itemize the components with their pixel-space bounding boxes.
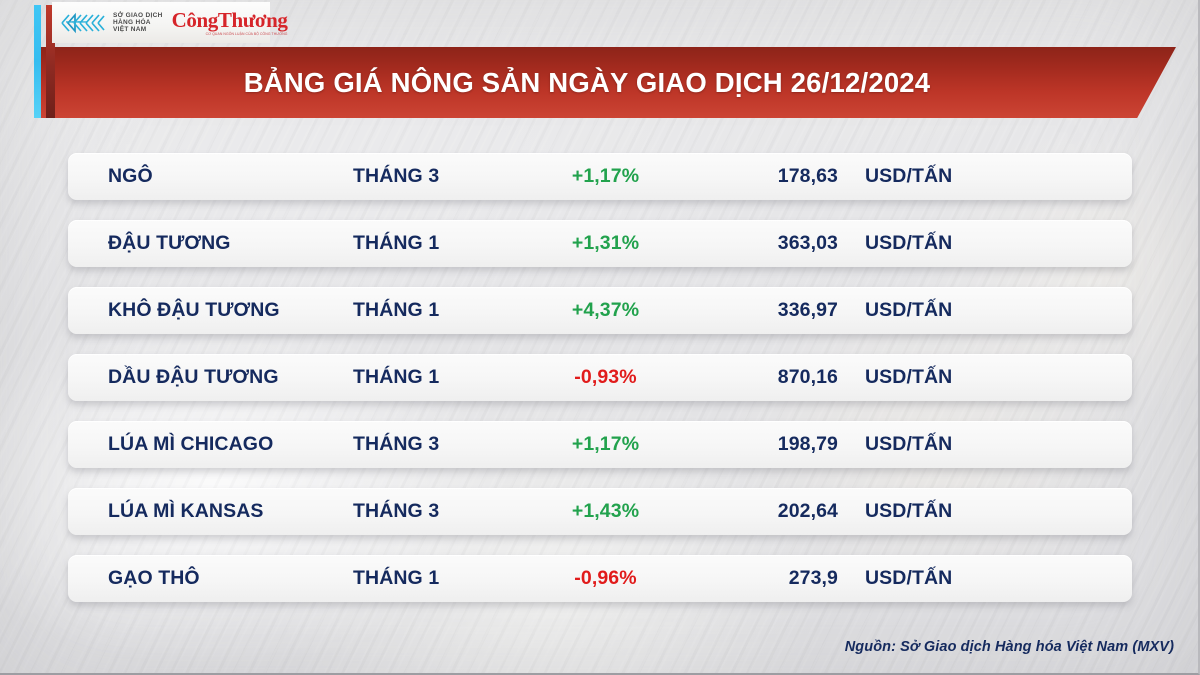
- row-commodity-name: DẦU ĐẬU TƯƠNG: [68, 366, 353, 389]
- row-commodity-name: LÚA MÌ KANSAS: [68, 500, 353, 523]
- row-unit: USD/TẤN: [838, 366, 978, 389]
- row-unit: USD/TẤN: [838, 299, 978, 322]
- row-commodity-name: ĐẬU TƯƠNG: [68, 232, 353, 255]
- row-price: 336,97: [693, 299, 838, 322]
- table-row: LÚA MÌ KANSAS THÁNG 3 +1,43% 202,64 USD/…: [68, 488, 1132, 535]
- row-change-percent: -0,93%: [518, 366, 693, 389]
- row-unit: USD/TẤN: [838, 567, 978, 590]
- mxv-line-2: HÀNG HÓA: [113, 19, 163, 26]
- row-unit: USD/TẤN: [838, 232, 978, 255]
- row-unit: USD/TẤN: [838, 165, 978, 188]
- table-row: GẠO THÔ THÁNG 1 -0,96% 273,9 USD/TẤN: [68, 555, 1132, 602]
- row-price: 273,9: [693, 567, 838, 590]
- row-change-percent: +1,43%: [518, 500, 693, 523]
- row-price: 178,63: [693, 165, 838, 188]
- cong-thuong-wordmark: CôngThương: [172, 10, 288, 31]
- page-title: BẢNG GIÁ NÔNG SẢN NGÀY GIAO DỊCH 26/12/2…: [244, 67, 967, 99]
- cong-thuong-logo: CôngThương CƠ QUAN NGÔN LUẬN CỦA BỘ CÔNG…: [172, 10, 288, 36]
- row-price: 202,64: [693, 500, 838, 523]
- row-contract-month: THÁNG 3: [353, 500, 518, 523]
- row-commodity-name: NGÔ: [68, 165, 353, 188]
- row-change-percent: +1,17%: [518, 433, 693, 456]
- price-table: NGÔ THÁNG 3 +1,17% 178,63 USD/TẤN ĐẬU TƯ…: [68, 153, 1132, 602]
- table-row: DẦU ĐẬU TƯƠNG THÁNG 1 -0,93% 870,16 USD/…: [68, 354, 1132, 401]
- row-commodity-name: KHÔ ĐẬU TƯƠNG: [68, 299, 353, 322]
- row-change-percent: +4,37%: [518, 299, 693, 322]
- table-row: KHÔ ĐẬU TƯƠNG THÁNG 1 +4,37% 336,97 USD/…: [68, 287, 1132, 334]
- row-price: 870,16: [693, 366, 838, 389]
- row-change-percent: +1,17%: [518, 165, 693, 188]
- table-row: ĐẬU TƯƠNG THÁNG 1 +1,31% 363,03 USD/TẤN: [68, 220, 1132, 267]
- mxv-chevron-logo-icon: [60, 10, 106, 36]
- mxv-line-3: VIỆT NAM: [113, 26, 163, 33]
- title-banner: BẢNG GIÁ NÔNG SẢN NGÀY GIAO DỊCH 26/12/2…: [34, 47, 1176, 118]
- row-contract-month: THÁNG 3: [353, 433, 518, 456]
- table-row: NGÔ THÁNG 3 +1,17% 178,63 USD/TẤN: [68, 153, 1132, 200]
- row-price: 198,79: [693, 433, 838, 456]
- row-commodity-name: GẠO THÔ: [68, 567, 353, 590]
- row-commodity-name: LÚA MÌ CHICAGO: [68, 433, 353, 456]
- row-change-percent: -0,96%: [518, 567, 693, 590]
- row-contract-month: THÁNG 1: [353, 567, 518, 590]
- row-contract-month: THÁNG 3: [353, 165, 518, 188]
- row-contract-month: THÁNG 1: [353, 366, 518, 389]
- row-contract-month: THÁNG 1: [353, 299, 518, 322]
- row-change-percent: +1,31%: [518, 232, 693, 255]
- logo-strip: SỞ GIAO DỊCH HÀNG HÓA VIỆT NAM CôngThươn…: [52, 2, 270, 43]
- mxv-line-1: SỞ GIAO DỊCH: [113, 12, 163, 19]
- mxv-wordmark: SỞ GIAO DỊCH HÀNG HÓA VIỆT NAM: [113, 12, 163, 33]
- cong-thuong-tagline: CƠ QUAN NGÔN LUẬN CỦA BỘ CÔNG THƯƠNG: [172, 32, 288, 36]
- row-unit: USD/TẤN: [838, 433, 978, 456]
- source-attribution: Nguồn: Sở Giao dịch Hàng hóa Việt Nam (M…: [845, 639, 1174, 655]
- row-unit: USD/TẤN: [838, 500, 978, 523]
- accent-bar-cyan: [34, 5, 41, 118]
- row-contract-month: THÁNG 1: [353, 232, 518, 255]
- table-row: LÚA MÌ CHICAGO THÁNG 3 +1,17% 198,79 USD…: [68, 421, 1132, 468]
- row-price: 363,03: [693, 232, 838, 255]
